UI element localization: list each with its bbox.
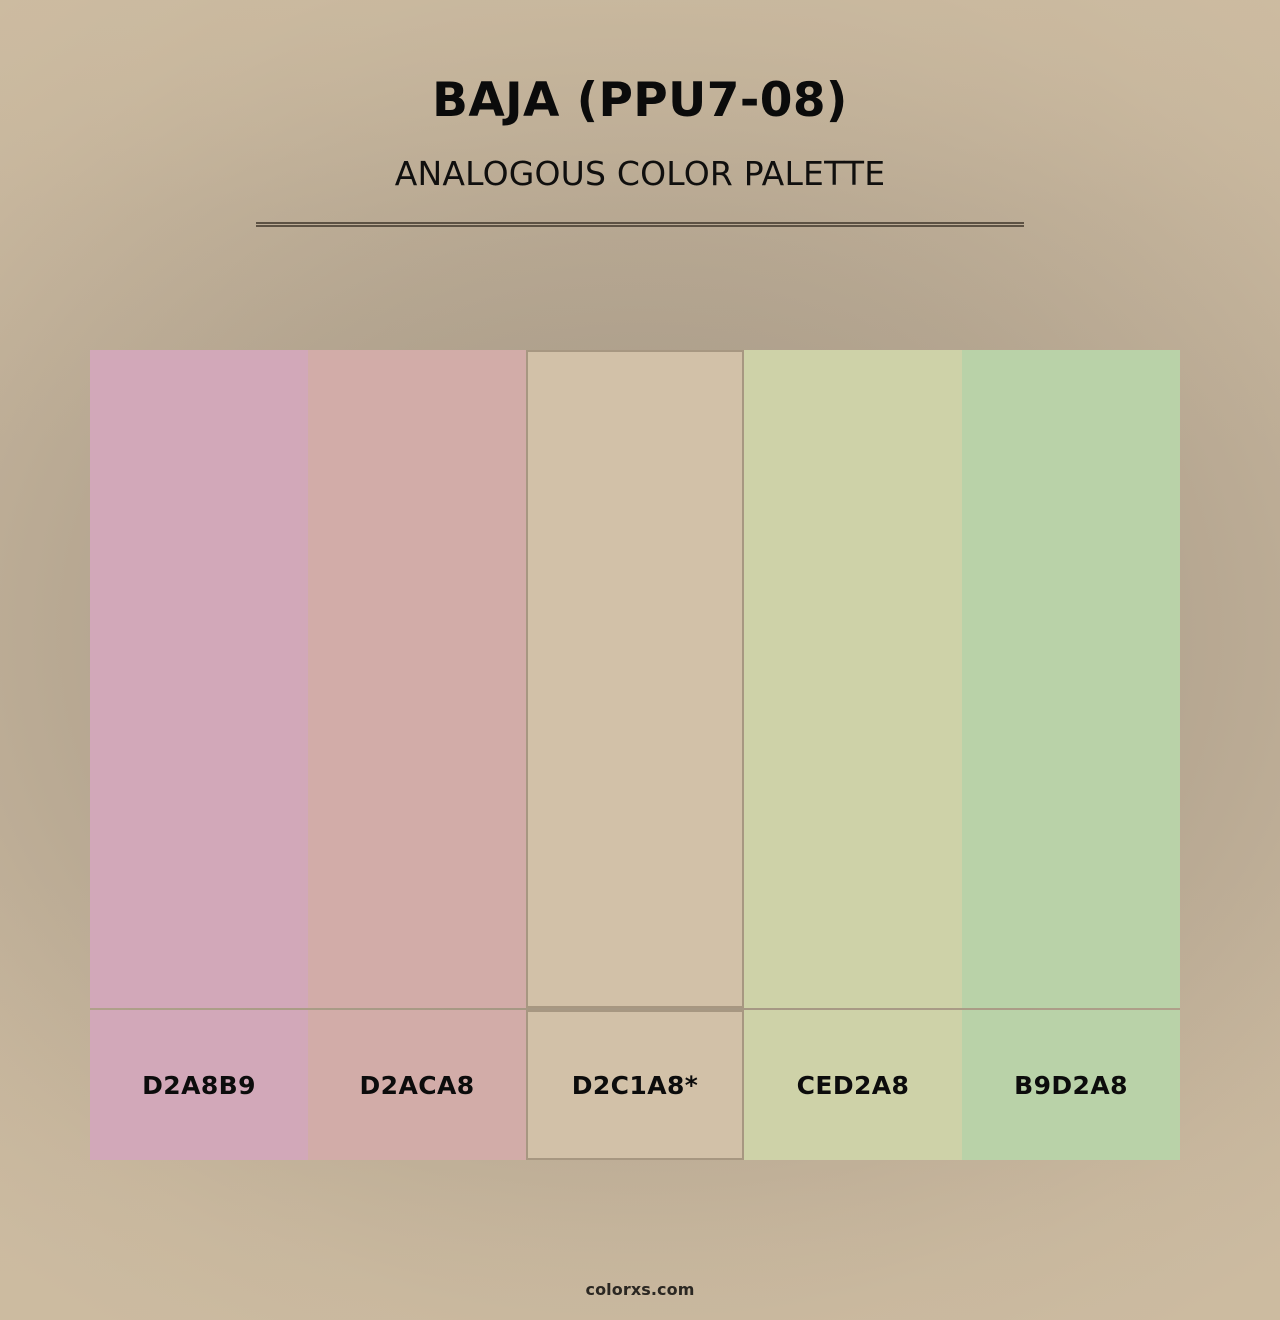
footer-site-label: colorxs.com (585, 1280, 694, 1299)
swatch-color-block[interactable] (744, 350, 962, 1008)
swatch-column[interactable]: B9D2A8 (962, 350, 1180, 1160)
header: BAJA (PPU7-08) ANALOGOUS COLOR PALETTE (0, 0, 1280, 227)
swatch-label-band[interactable]: D2C1A8* (526, 1010, 744, 1160)
swatch-column[interactable]: D2ACA8 (308, 350, 526, 1160)
swatch-hex-label: D2ACA8 (360, 1071, 475, 1100)
swatch-color-block[interactable] (962, 350, 1180, 1008)
swatch-hex-label: B9D2A8 (1014, 1071, 1128, 1100)
swatch-hex-label: D2A8B9 (142, 1071, 256, 1100)
swatch-hex-label: D2C1A8* (572, 1071, 699, 1100)
swatch-label-band[interactable]: CED2A8 (744, 1010, 962, 1160)
swatch-column-base[interactable]: D2C1A8* (526, 350, 744, 1160)
page-title: BAJA (PPU7-08) (0, 0, 1280, 126)
color-palette-board: D2A8B9 D2ACA8 D2C1A8* CED2A8 (90, 350, 1180, 1160)
page-content: BAJA (PPU7-08) ANALOGOUS COLOR PALETTE D… (0, 0, 1280, 1320)
swatch-label-band[interactable]: D2A8B9 (90, 1010, 308, 1160)
swatch-column[interactable]: CED2A8 (744, 350, 962, 1160)
swatch-color-block[interactable] (526, 350, 744, 1008)
swatch-color-block[interactable] (90, 350, 308, 1008)
page-subtitle: ANALOGOUS COLOR PALETTE (0, 126, 1280, 192)
swatch-label-band[interactable]: D2ACA8 (308, 1010, 526, 1160)
footer: colorxs.com (0, 1280, 1280, 1299)
swatch-column[interactable]: D2A8B9 (90, 350, 308, 1160)
header-divider (256, 222, 1024, 227)
swatch-label-band[interactable]: B9D2A8 (962, 1010, 1180, 1160)
swatch-hex-label: CED2A8 (797, 1071, 910, 1100)
swatch-color-block[interactable] (308, 350, 526, 1008)
